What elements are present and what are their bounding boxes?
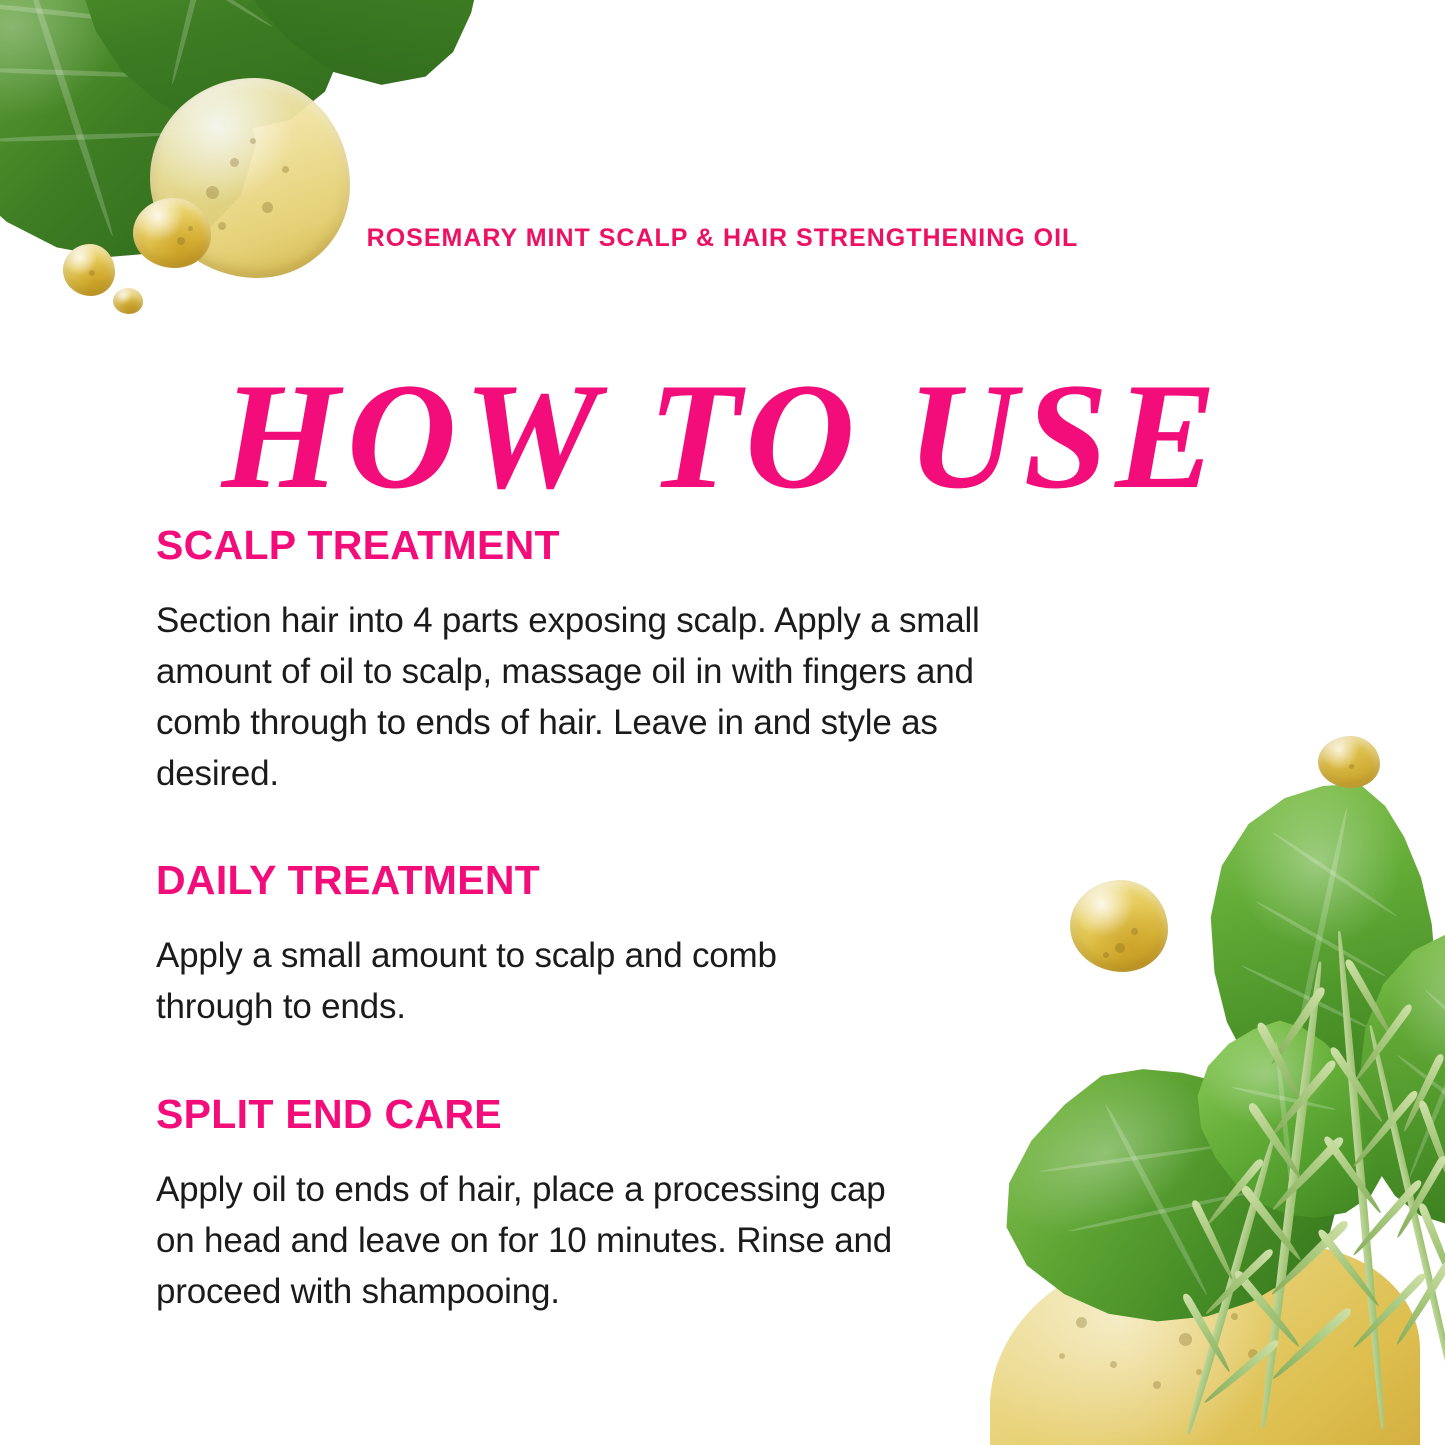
section-heading-scalp-treatment: SCALP TREATMENT xyxy=(156,522,1036,569)
section-heading-split-end-care: SPLIT END CARE xyxy=(156,1091,1036,1138)
oil-droplet-cluster xyxy=(45,190,230,335)
page-title: HOW TO USE xyxy=(0,360,1445,512)
mint-leaves-top-left xyxy=(0,0,470,310)
product-eyebrow: ROSEMARY MINT SCALP & HAIR STRENGTHENING… xyxy=(0,224,1445,253)
oil-droplet-icon xyxy=(113,288,143,314)
rosemary-sprigs xyxy=(1175,900,1445,1445)
section-body-daily-treatment: Apply a small amount to scalp and comb t… xyxy=(156,930,886,1032)
oil-pool-bottom-right xyxy=(990,1245,1420,1445)
mint-leaf-icon xyxy=(1168,758,1445,1133)
section-heading-daily-treatment: DAILY TREATMENT xyxy=(156,857,1036,904)
mint-leaf-icon xyxy=(1302,890,1445,1251)
infographic-page: ROSEMARY MINT SCALP & HAIR STRENGTHENING… xyxy=(0,0,1445,1445)
mint-leaf-icon xyxy=(139,0,571,127)
instruction-section: DAILY TREATMENT Apply a small amount to … xyxy=(156,857,1036,1032)
mint-leaf-icon xyxy=(1185,1011,1395,1230)
mint-leaf-icon xyxy=(0,0,288,312)
instruction-section: SPLIT END CARE Apply oil to ends of hair… xyxy=(156,1091,1036,1317)
oil-pool-bubbles xyxy=(990,1245,1420,1445)
instruction-sections: SCALP TREATMENT Section hair into 4 part… xyxy=(156,522,1036,1317)
oil-droplet-icon xyxy=(1318,736,1380,788)
section-body-scalp-treatment: Section hair into 4 parts exposing scalp… xyxy=(156,595,1001,799)
section-body-split-end-care: Apply oil to ends of hair, place a proce… xyxy=(156,1164,931,1317)
oil-droplet-icon xyxy=(1070,880,1168,972)
instruction-section: SCALP TREATMENT Section hair into 4 part… xyxy=(156,522,1036,799)
mint-leaf-icon xyxy=(28,0,392,152)
